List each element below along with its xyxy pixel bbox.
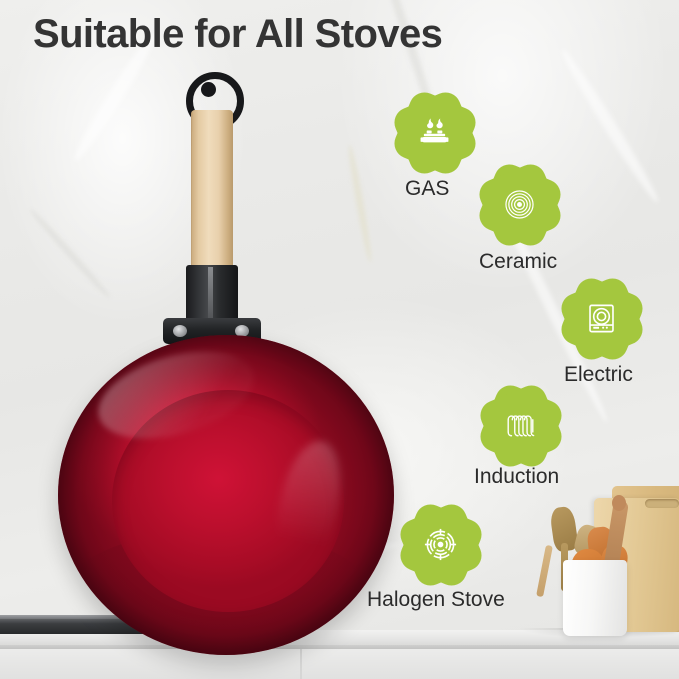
kitchen-cabinets: [0, 649, 679, 679]
wooden-handle: [191, 110, 233, 272]
badge-label-induction: Induction: [474, 465, 559, 489]
badge-label-electric: Electric: [564, 363, 633, 387]
cabinet-seam: [300, 649, 302, 679]
cutting-board-handle-hole: [645, 499, 679, 508]
bracket-rivet-left: [173, 325, 187, 337]
page-title: Suitable for All Stoves: [33, 12, 442, 57]
red-frying-pan: [60, 60, 390, 620]
utensil-crock: [563, 560, 627, 636]
badge-label-ceramic: Ceramic: [479, 250, 557, 274]
hanging-ring-nub: [201, 82, 216, 97]
badge-label-halogen: Halogen Stove: [367, 588, 505, 612]
handle-bracket-slot: [208, 267, 213, 325]
utensil-rolling-pin-knob: [612, 495, 626, 511]
badge-label-gas: GAS: [405, 177, 449, 201]
product-lifestyle-image: GASCeramicElectricInductionHalogen Stove…: [0, 0, 679, 679]
